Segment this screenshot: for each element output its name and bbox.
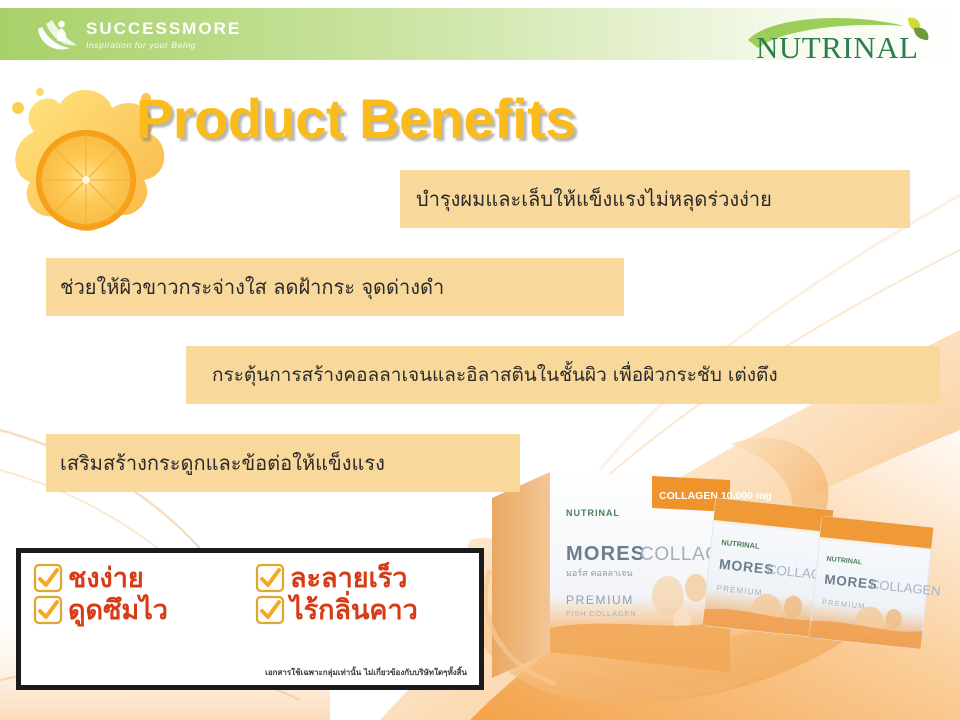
box-thai-sub: มอร์ส คอลลาเจน xyxy=(566,567,633,579)
slide-canvas: SUCCESSMORE Inspiration for your Being N… xyxy=(0,0,960,720)
benefit-text-3: กระตุ้นการสร้างคอลลาเจนและอิลาสตินในชั้น… xyxy=(212,360,778,390)
checkbox-checked-icon xyxy=(33,595,63,625)
brand-name: SUCCESSMORE xyxy=(86,20,241,37)
checkbox-checked-icon xyxy=(33,563,63,593)
benefit-box-2: ช่วยให้ผิวขาวกระจ่างใส ลดฝ้ากระ จุดด่างด… xyxy=(46,258,624,316)
page-title: Product Benefits xyxy=(136,86,576,151)
box-product-name-1: MORES xyxy=(566,543,645,565)
benefit-text-1: บำรุงผมและเล็บให้แข็งแรงไม่หลุดร่วงง่าย xyxy=(416,183,772,215)
checklist-panel: ชงง่าย ละลายเร็ว ดูดซึมไว xyxy=(16,548,484,690)
checklist-item-3: ดูดซึมไว xyxy=(33,595,245,625)
checklist-label-1: ชงง่าย xyxy=(68,565,144,592)
checklist-item-1: ชงง่าย xyxy=(33,563,245,593)
leaf-person-icon xyxy=(36,15,80,55)
benefit-box-3: กระตุ้นการสร้างคอลลาเจนและอิลาสตินในชั้น… xyxy=(186,346,940,404)
checkbox-checked-icon xyxy=(255,563,285,593)
disclaimer-text: เอกสารใช้เฉพาะกลุ่มเท่านั้น ไม่เกี่ยวข้อ… xyxy=(265,666,467,679)
benefit-text-2: ช่วยให้ผิวขาวกระจ่างใส ลดฝ้ากระ จุดด่างด… xyxy=(60,271,444,303)
checklist-label-2: ละลายเร็ว xyxy=(290,565,407,592)
box-grade-1: PREMIUM xyxy=(566,593,634,607)
checklist-label-4: ไร้กลิ่นคาว xyxy=(290,597,418,624)
benefit-text-4: เสริมสร้างกระดูกและข้อต่อให้แข็งแรง xyxy=(60,447,385,479)
benefit-box-1: บำรุงผมและเล็บให้แข็งแรงไม่หลุดร่วงง่าย xyxy=(400,170,910,228)
checklist-label-3: ดูดซึมไว xyxy=(68,597,168,624)
successmore-logo: SUCCESSMORE Inspiration for your Being xyxy=(36,14,241,56)
benefit-box-4: เสริมสร้างกระดูกและข้อต่อให้แข็งแรง xyxy=(46,434,520,492)
checkbox-checked-icon xyxy=(255,595,285,625)
box-grade-2: FISH COLLAGEN xyxy=(566,609,636,618)
nutrinal-logo: NUTRINAL xyxy=(742,6,932,68)
checklist-item-4: ไร้กลิ่นคาว xyxy=(255,595,467,625)
box-brand-mark: NUTRINAL xyxy=(566,508,620,518)
checklist-grid: ชงง่าย ละลายเร็ว ดูดซึมไว xyxy=(33,563,467,625)
nutrinal-wordmark: NUTRINAL xyxy=(756,30,918,65)
brand-tagline: Inspiration for your Being xyxy=(86,41,241,50)
checklist-item-2: ละลายเร็ว xyxy=(255,563,467,593)
